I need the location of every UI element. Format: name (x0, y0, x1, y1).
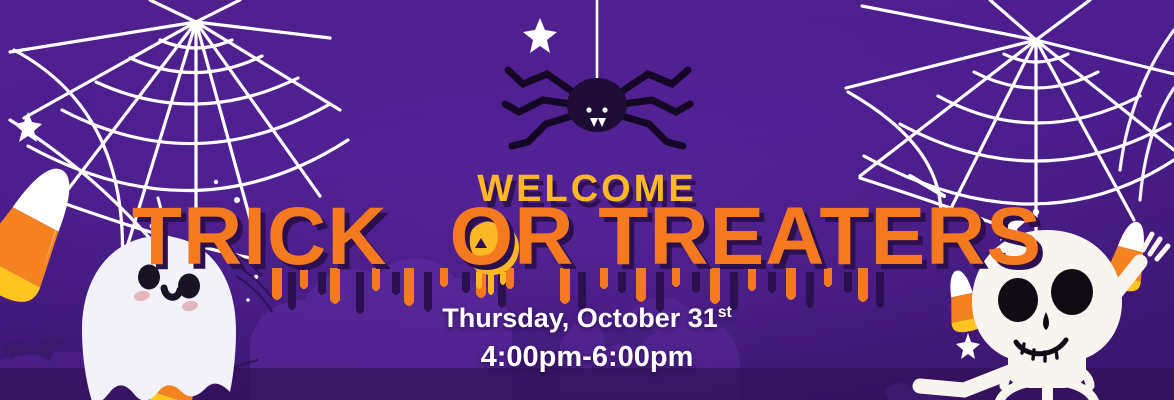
halloween-banner: WELCOME TRICKOR TREATERS Thursday, Octob… (0, 0, 1174, 400)
jack-o-lantern-letter-o (0, 0, 1174, 400)
